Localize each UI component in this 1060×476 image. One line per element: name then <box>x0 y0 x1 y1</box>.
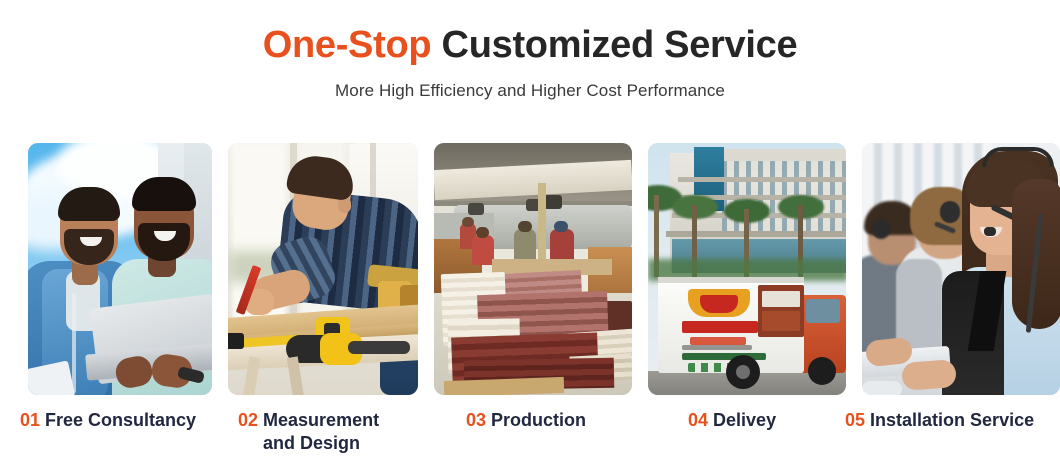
step-number-4: 04 <box>688 410 708 430</box>
truck-box-edge <box>658 277 804 283</box>
headset-headband <box>982 147 1054 167</box>
factory-worker <box>472 235 494 265</box>
step-number-5: 05 <box>845 410 865 430</box>
worker-head <box>554 221 568 232</box>
page-title-accent: One-Stop <box>263 24 432 66</box>
tool-handle <box>348 341 410 354</box>
process-step-gallery <box>28 143 1038 395</box>
step-label-3: Production <box>491 410 586 430</box>
installation-support-photo <box>862 143 1060 395</box>
factory-lamp <box>468 203 484 215</box>
step-image-card-4[interactable] <box>648 143 846 395</box>
page-subtitle: More High Efficiency and Higher Cost Per… <box>0 81 1060 101</box>
page-title-rest: Customized Service <box>431 24 797 66</box>
worker-head <box>462 217 474 227</box>
step-caption-2: 02Measurement and Design <box>238 409 379 455</box>
headset-earpiece <box>940 201 960 223</box>
truck-company-text <box>682 345 752 350</box>
one-stop-service-banner: One-Stop Customized Service More High Ef… <box>0 0 1060 476</box>
truck-wheel-hub <box>736 365 750 379</box>
truck-graphic-detail <box>762 311 800 331</box>
step-image-card-3[interactable] <box>434 143 632 395</box>
step-number-2: 02 <box>238 410 258 430</box>
page-title: One-Stop Customized Service <box>0 24 1060 67</box>
shirt-buttons <box>72 293 76 393</box>
truck-wheel <box>808 357 836 385</box>
banner-header: One-Stop Customized Service More High Ef… <box>0 0 1060 101</box>
person-hair <box>132 177 196 211</box>
step-caption-3: 03Production <box>466 409 586 432</box>
computer-mouse <box>862 381 902 395</box>
step-caption-row: 01Free Consultancy 02Measurement and Des… <box>0 405 1060 475</box>
step-image-card-5[interactable] <box>862 143 1060 395</box>
factory-lamp <box>544 195 562 209</box>
headset-microphone <box>984 227 996 236</box>
truck-cab-window <box>806 299 840 323</box>
step-number-3: 03 <box>466 410 486 430</box>
support-post <box>538 183 546 269</box>
production-photo <box>434 143 632 395</box>
step-label-5: Installation Service <box>870 410 1034 430</box>
step-label-4: Delivey <box>713 410 776 430</box>
headset-earpiece <box>872 219 890 239</box>
step-caption-4: 04Delivey <box>688 409 776 432</box>
wooden-pallet <box>444 377 564 395</box>
square-tool <box>228 333 244 349</box>
step-image-card-2[interactable] <box>228 143 418 395</box>
building-floor-band <box>678 177 846 182</box>
truck-brand-text <box>682 321 758 333</box>
consultancy-photo <box>28 143 212 395</box>
step-image-card-1[interactable] <box>28 143 212 395</box>
measurement-photo <box>228 143 418 395</box>
truck-tagline-text <box>690 337 746 345</box>
step-number-1: 01 <box>20 410 40 430</box>
step-label-2: Measurement and Design <box>263 409 379 455</box>
delivery-photo <box>648 143 846 395</box>
agent-hand <box>901 359 957 391</box>
worker-head <box>518 221 532 232</box>
worker-head <box>476 227 489 238</box>
truck-logo-inner <box>700 295 738 313</box>
step-caption-5: 05Installation Service <box>845 409 1034 432</box>
step-label-1: Free Consultancy <box>45 410 196 430</box>
truck-graphic-detail <box>762 291 800 307</box>
step-caption-1: 01Free Consultancy <box>20 409 196 432</box>
